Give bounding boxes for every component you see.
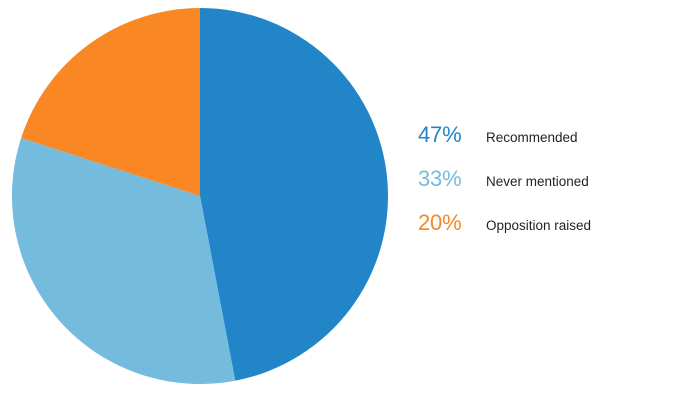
legend-label-opposition-raised: Opposition raised xyxy=(478,215,591,237)
legend-percent-recommended: 47% xyxy=(418,124,478,146)
legend-percent-never-mentioned: 33% xyxy=(418,168,478,190)
pie-slice-recommended[interactable] xyxy=(200,8,388,381)
pie-svg xyxy=(0,0,404,408)
legend-label-never-mentioned: Never mentioned xyxy=(478,171,589,193)
legend-percent-opposition-raised: 20% xyxy=(418,212,478,234)
pie-chart-graphic xyxy=(0,0,404,408)
legend-item-opposition-raised[interactable]: 20% Opposition raised xyxy=(418,212,658,256)
legend-label-recommended: Recommended xyxy=(478,127,578,149)
legend-item-never-mentioned[interactable]: 33% Never mentioned xyxy=(418,168,658,212)
legend-item-recommended[interactable]: 47% Recommended xyxy=(418,124,658,168)
pie-chart-figure: 47% Recommended 33% Never mentioned 20% … xyxy=(0,0,675,408)
chart-legend: 47% Recommended 33% Never mentioned 20% … xyxy=(418,124,658,256)
